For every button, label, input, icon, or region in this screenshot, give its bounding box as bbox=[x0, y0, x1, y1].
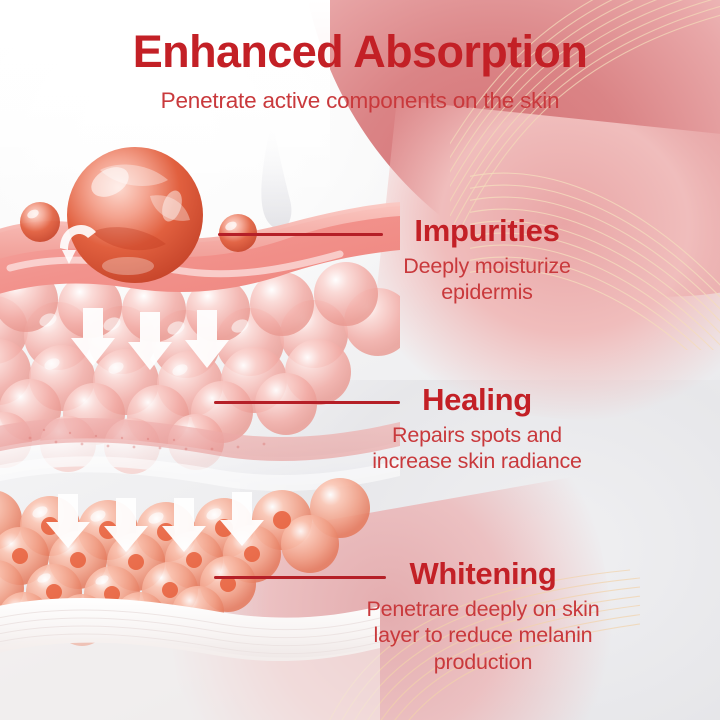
callout-body-whitening: Penetrare deeply on skin layer to reduce… bbox=[352, 596, 614, 675]
penetration-arrows-upper bbox=[71, 308, 229, 370]
page-subtitle: Penetrate active components on the skin bbox=[0, 88, 720, 114]
callout-healing: Healing Repairs spots and increase skin … bbox=[352, 383, 602, 475]
callout-whitening: Whitening Penetrare deeply on skin layer… bbox=[352, 557, 614, 675]
callout-impurities: Impurities Deeply moisturize epidermis bbox=[368, 214, 606, 306]
lead-line-impurities bbox=[218, 233, 383, 236]
infographic-poster: Enhanced Absorption Penetrate active com… bbox=[0, 0, 720, 720]
callout-body-impurities: Deeply moisturize epidermis bbox=[368, 253, 606, 305]
page-title: Enhanced Absorption bbox=[0, 28, 720, 75]
callout-title-whitening: Whitening bbox=[352, 557, 614, 591]
callout-title-impurities: Impurities bbox=[368, 214, 606, 248]
dermis-base bbox=[0, 598, 380, 720]
callout-body-healing: Repairs spots and increase skin radiance bbox=[352, 422, 602, 474]
serum-droplet bbox=[67, 147, 203, 283]
callout-title-healing: Healing bbox=[352, 383, 602, 417]
